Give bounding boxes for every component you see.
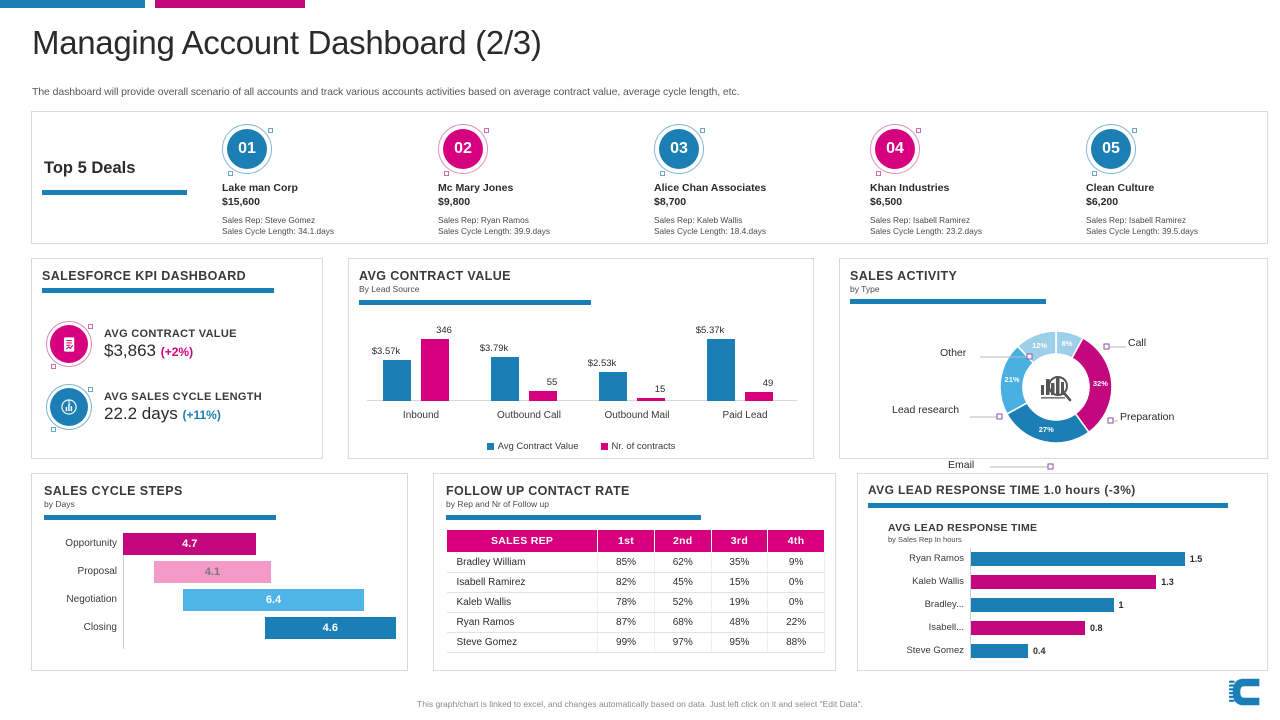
table-cell-value: 0%: [768, 573, 825, 593]
table-cell-value: 82%: [598, 573, 655, 593]
lead-response-row: Bradley...1: [868, 596, 1259, 614]
kpi-delta: (+2%): [161, 345, 193, 359]
handle-square-icon: [660, 171, 665, 176]
deal-card[interactable]: 05Clean Culture$6,200Sales Rep: Isabell …: [1086, 124, 1280, 237]
lead-response-row: Isabell...0.8: [868, 619, 1259, 637]
acv-bar-value[interactable]: [707, 339, 735, 401]
table-cell-value: 87%: [598, 613, 655, 633]
lead-inner-title: AVG LEAD RESPONSE TIME: [888, 522, 1037, 534]
svg-text:$: $: [68, 401, 71, 407]
cycle-plot: Opportunity4.7Proposal4.1Negotiation6.4C…: [42, 529, 399, 659]
cycle-step-bar[interactable]: 6.4: [183, 589, 365, 611]
avg-lead-response-panel: AVG LEAD RESPONSE TIME 1.0 hours (-3%) A…: [857, 473, 1268, 671]
acv-count-label: 49: [745, 378, 791, 389]
cycle-step-value: 4.6: [323, 622, 338, 634]
acv-category-label: Outbound Call: [477, 410, 581, 421]
acv-category-label: Inbound: [369, 410, 473, 421]
donut-category-label: Email: [948, 459, 974, 471]
kpi-text-group: AVG CONTRACT VALUE$3,863 (+2%): [104, 328, 237, 361]
kpi-underline: [42, 288, 274, 293]
donut-slice[interactable]: [1007, 403, 1089, 443]
donut-category-label: Lead research: [892, 404, 959, 416]
cycle-panel-subtitle: by Days: [44, 499, 276, 509]
table-column-header[interactable]: 3rd: [711, 530, 768, 553]
handle-square-icon: [228, 171, 233, 176]
deal-badge-group: 04: [870, 124, 920, 174]
deal-company-name: Mc Mary Jones: [438, 182, 644, 194]
acv-category-label: Outbound Mail: [585, 410, 689, 421]
handle-square-icon: [268, 128, 273, 133]
sales-activity-donut: 8%32%27%21%12%CallPreparationEmailLead r…: [840, 299, 1269, 457]
table-cell-rep: Kaleb Wallis: [447, 593, 598, 613]
acv-bar-value[interactable]: [599, 372, 627, 401]
acv-legend: Avg Contract ValueNr. of contracts: [349, 441, 813, 452]
deal-meta: Sales Rep: Isabell RamirezSales Cycle Le…: [1086, 215, 1280, 237]
activity-panel-title: SALES ACTIVITY: [850, 269, 1046, 283]
legend-swatch-icon: [487, 443, 494, 450]
cycle-step-row: Closing4.6: [42, 617, 399, 639]
lead-response-value: 1.3: [1161, 573, 1174, 591]
cycle-step-label: Opportunity: [42, 533, 117, 555]
table-cell-value: 85%: [598, 553, 655, 573]
lead-response-bar[interactable]: [971, 598, 1114, 612]
cycle-step-row: Negotiation6.4: [42, 589, 399, 611]
table-cell-value: 99%: [598, 633, 655, 653]
acv-bar-count[interactable]: [421, 339, 449, 401]
handle-square-icon: [1132, 128, 1137, 133]
legend-entry[interactable]: Avg Contract Value: [487, 441, 579, 452]
table-cell-rep: Isabell Ramirez: [447, 573, 598, 593]
kpi-value: $3,863 (+2%): [104, 341, 237, 361]
table-column-header[interactable]: 2nd: [654, 530, 711, 553]
deal-amount: $15,600: [222, 196, 428, 208]
table-cell-value: 78%: [598, 593, 655, 613]
activity-panel-subtitle: by Type: [850, 284, 1046, 294]
table-cell-value: 15%: [711, 573, 768, 593]
deal-card[interactable]: 03Alice Chan Associates$8,700Sales Rep: …: [654, 124, 860, 237]
kpi-icon-group: $: [46, 384, 92, 430]
kpi-delta: (+11%): [182, 408, 220, 422]
kpi-text-group: AVG SALES CYCLE LENGTH22.2 days (+11%): [104, 391, 262, 424]
deal-meta: Sales Rep: Isabell RamirezSales Cycle Le…: [870, 215, 1076, 237]
lead-rep-label: Steve Gomez: [868, 642, 964, 660]
acv-bar-count[interactable]: [637, 398, 665, 401]
handle-square-icon: [700, 128, 705, 133]
kpi-label: AVG CONTRACT VALUE: [104, 328, 237, 340]
acv-count-label: 346: [421, 325, 467, 336]
deal-amount: $6,200: [1086, 196, 1280, 208]
handle-square-icon: [484, 128, 489, 133]
table-cell-value: 52%: [654, 593, 711, 613]
table-cell-value: 19%: [711, 593, 768, 613]
table-cell-value: 62%: [654, 553, 711, 573]
lead-rep-label: Ryan Ramos: [868, 550, 964, 568]
cycle-step-bar[interactable]: 4.1: [154, 561, 270, 583]
acv-panel-title: AVG CONTRACT VALUE: [359, 269, 591, 283]
legend-label: Avg Contract Value: [498, 441, 579, 452]
acv-value-label: $3.57k: [363, 346, 409, 357]
cycle-step-bar[interactable]: 4.7: [123, 533, 256, 555]
lead-inner-subtitle: by Sales Rep In hours: [888, 535, 962, 544]
top-deals-label: Top 5 Deals: [44, 159, 135, 178]
acv-value-label: $5.37k: [687, 325, 733, 336]
salesforce-kpi-panel: SALESFORCE KPI DASHBOARD AVG CONTRACT VA…: [31, 258, 323, 459]
lead-response-row: Steve Gomez0.4: [868, 642, 1259, 660]
cycle-step-value: 4.1: [205, 566, 220, 578]
deal-badge-group: 03: [654, 124, 704, 174]
table-cell-value: 97%: [654, 633, 711, 653]
lead-response-row: Ryan Ramos1.5: [868, 550, 1259, 568]
kpi-value: 22.2 days (+11%): [104, 404, 262, 424]
table-row: Kaleb Wallis78%52%19%0%: [447, 593, 825, 613]
cycle-step-label: Proposal: [42, 561, 117, 583]
handle-square-icon: [1092, 171, 1097, 176]
follow-header: FOLLOW UP CONTACT RATE by Rep and Nr of …: [446, 484, 701, 520]
handle-square-icon: [88, 387, 93, 392]
deal-meta: Sales Rep: Kaleb WallisSales Cycle Lengt…: [654, 215, 860, 237]
top-deals-underline: [42, 190, 187, 195]
sales-activity-panel: SALES ACTIVITY by Type 8%32%27%21%12%Cal…: [839, 258, 1268, 459]
cycle-step-label: Negotiation: [42, 589, 117, 611]
kpi-icon-group: [46, 321, 92, 367]
kpi-metric-row: AVG CONTRACT VALUE$3,863 (+2%): [46, 321, 237, 367]
lead-rep-label: Kaleb Wallis: [868, 573, 964, 591]
table-cell-value: 45%: [654, 573, 711, 593]
table-cell-rep: Ryan Ramos: [447, 613, 598, 633]
lead-rep-label: Bradley...: [868, 596, 964, 614]
donut-category-label: Call: [1128, 337, 1146, 349]
sales-cycle-steps-panel: SALES CYCLE STEPS by Days Opportunity4.7…: [31, 473, 408, 671]
acv-bar-count[interactable]: [745, 392, 773, 401]
follow-up-table: SALES REP1st2nd3rd4th Bradley William85%…: [446, 529, 825, 653]
table-cell-rep: Bradley William: [447, 553, 598, 573]
footer-note: This graph/chart is linked to excel, and…: [0, 699, 1280, 709]
cycle-panel-title: SALES CYCLE STEPS: [44, 484, 276, 498]
deal-number-badge: 04: [875, 129, 915, 169]
deal-company-name: Lake man Corp: [222, 182, 428, 194]
deal-number-badge: 01: [227, 129, 267, 169]
table-cell-rep: Steve Gomez: [447, 633, 598, 653]
donut-percent-label: 8%: [1057, 339, 1077, 348]
acv-bar-value[interactable]: [383, 360, 411, 401]
deal-badge-group: 05: [1086, 124, 1136, 174]
table-cell-value: 48%: [711, 613, 768, 633]
lead-response-value: 1.5: [1190, 550, 1203, 568]
lead-response-value: 1: [1119, 596, 1124, 614]
acv-bar-count[interactable]: [529, 391, 557, 401]
legend-entry[interactable]: Nr. of contracts: [601, 441, 676, 452]
lead-response-bar[interactable]: [971, 552, 1185, 566]
cycle-step-label: Closing: [42, 617, 117, 639]
table-cell-value: 88%: [768, 633, 825, 653]
acv-count-label: 15: [637, 384, 683, 395]
top-deals-panel: Top 5 Deals 01Lake man Corp$15,600Sales …: [31, 111, 1268, 244]
cycle-underline: [44, 515, 276, 520]
donut-percent-label: 12%: [1030, 341, 1050, 350]
cycle-step-row: Opportunity4.7: [42, 533, 399, 555]
deal-company-name: Clean Culture: [1086, 182, 1280, 194]
deal-amount: $6,500: [870, 196, 1076, 208]
table-column-header[interactable]: 1st: [598, 530, 655, 553]
table-cell-value: 22%: [768, 613, 825, 633]
table-row: Bradley William85%62%35%9%: [447, 553, 825, 573]
accent-bar-pink: [155, 0, 305, 8]
kpi-header: SALESFORCE KPI DASHBOARD: [42, 269, 274, 293]
deal-amount: $8,700: [654, 196, 860, 208]
handle-square-icon: [51, 427, 56, 432]
lead-response-value: 0.4: [1033, 642, 1046, 660]
table-row: Ryan Ramos87%68%48%22%: [447, 613, 825, 633]
table-column-header[interactable]: 4th: [768, 530, 825, 553]
acv-count-label: 55: [529, 377, 575, 388]
lead-response-row: Kaleb Wallis1.3: [868, 573, 1259, 591]
kpi-label: AVG SALES CYCLE LENGTH: [104, 391, 262, 403]
cycle-step-bar[interactable]: 4.6: [265, 617, 396, 639]
lead-response-bar[interactable]: [971, 575, 1156, 589]
lead-underline: [868, 503, 1228, 508]
acv-bar-value[interactable]: [491, 357, 519, 401]
table-cell-value: 9%: [768, 553, 825, 573]
table-header-row: SALES REP1st2nd3rd4th: [447, 530, 825, 553]
lead-rep-label: Isabell...: [868, 619, 964, 637]
page-subtitle: The dashboard will provide overall scena…: [32, 86, 739, 98]
table-cell-value: 68%: [654, 613, 711, 633]
top-accent-bars: [0, 0, 1280, 8]
donut-percent-label: 32%: [1090, 379, 1110, 388]
kpi-metric-row: $AVG SALES CYCLE LENGTH22.2 days (+11%): [46, 384, 262, 430]
deal-number-badge: 02: [443, 129, 483, 169]
handle-square-icon: [88, 324, 93, 329]
lead-response-value: 0.8: [1090, 619, 1103, 637]
donut-percent-label: 21%: [1002, 375, 1022, 384]
deal-badge-group: 01: [222, 124, 272, 174]
follow-panel-title: FOLLOW UP CONTACT RATE: [446, 484, 701, 498]
deal-badge-group: 02: [438, 124, 488, 174]
acv-value-label: $3.79k: [471, 343, 517, 354]
accent-bar-blue: [0, 0, 145, 8]
table-column-header[interactable]: SALES REP: [447, 530, 598, 553]
table-row: Steve Gomez99%97%95%88%: [447, 633, 825, 653]
acv-category-label: Paid Lead: [693, 410, 797, 421]
acv-plot: $3.57k346Inbound$3.79k55Outbound Call$2.…: [359, 317, 805, 425]
lead-panel-title: AVG LEAD RESPONSE TIME 1.0 hours (-3%): [868, 483, 1228, 497]
deal-number-badge: 05: [1091, 129, 1131, 169]
table-cell-value: 95%: [711, 633, 768, 653]
deal-card[interactable]: 01Lake man Corp$15,600Sales Rep: Steve G…: [222, 124, 428, 237]
deal-meta: Sales Rep: Steve GomezSales Cycle Length…: [222, 215, 428, 237]
donut-category-label: Preparation: [1120, 411, 1174, 423]
table-row: Isabell Ramirez82%45%15%0%: [447, 573, 825, 593]
handle-square-icon: [916, 128, 921, 133]
handle-square-icon: [876, 171, 881, 176]
lead-header: AVG LEAD RESPONSE TIME 1.0 hours (-3%): [868, 483, 1228, 508]
legend-label: Nr. of contracts: [612, 441, 676, 452]
company-logo-icon: [1228, 673, 1266, 711]
deal-number-badge: 03: [659, 129, 699, 169]
cycle-step-row: Proposal4.1: [42, 561, 399, 583]
acv-header: AVG CONTRACT VALUE By Lead Source: [359, 269, 591, 305]
cycle-step-value: 4.7: [182, 538, 197, 550]
acv-panel-subtitle: By Lead Source: [359, 284, 591, 294]
document-chart-icon: [50, 325, 88, 363]
lead-response-bar[interactable]: [971, 644, 1028, 658]
page-title: Managing Account Dashboard (2/3): [32, 24, 542, 62]
table-cell-value: 35%: [711, 553, 768, 573]
handle-square-icon: [51, 364, 56, 369]
deal-amount: $9,800: [438, 196, 644, 208]
follow-up-contact-rate-panel: FOLLOW UP CONTACT RATE by Rep and Nr of …: [433, 473, 836, 671]
follow-panel-subtitle: by Rep and Nr of Follow up: [446, 499, 701, 509]
acv-value-label: $2.53k: [579, 358, 625, 369]
lead-plot: Ryan Ramos1.5Kaleb Wallis1.3Bradley...1I…: [868, 548, 1259, 664]
donut-category-label: Other: [940, 347, 966, 359]
deal-company-name: Alice Chan Associates: [654, 182, 860, 194]
donut-percent-label: 27%: [1036, 425, 1056, 434]
cycle-header: SALES CYCLE STEPS by Days: [44, 484, 276, 520]
deal-company-name: Khan Industries: [870, 182, 1076, 194]
cycle-chart-icon: $: [50, 388, 88, 426]
handle-square-icon: [444, 171, 449, 176]
bar-chart-magnifier-icon: [1036, 367, 1076, 407]
cycle-step-value: 6.4: [266, 594, 281, 606]
avg-contract-value-panel: AVG CONTRACT VALUE By Lead Source $3.57k…: [348, 258, 814, 459]
deal-card[interactable]: 02Mc Mary Jones$9,800Sales Rep: Ryan Ram…: [438, 124, 644, 237]
deal-card[interactable]: 04Khan Industries$6,500Sales Rep: Isabel…: [870, 124, 1076, 237]
kpi-panel-title: SALESFORCE KPI DASHBOARD: [42, 269, 274, 283]
lead-response-bar[interactable]: [971, 621, 1085, 635]
legend-swatch-icon: [601, 443, 608, 450]
follow-underline: [446, 515, 701, 520]
table-cell-value: 0%: [768, 593, 825, 613]
deal-meta: Sales Rep: Ryan RamosSales Cycle Length:…: [438, 215, 644, 237]
acv-underline: [359, 300, 591, 305]
